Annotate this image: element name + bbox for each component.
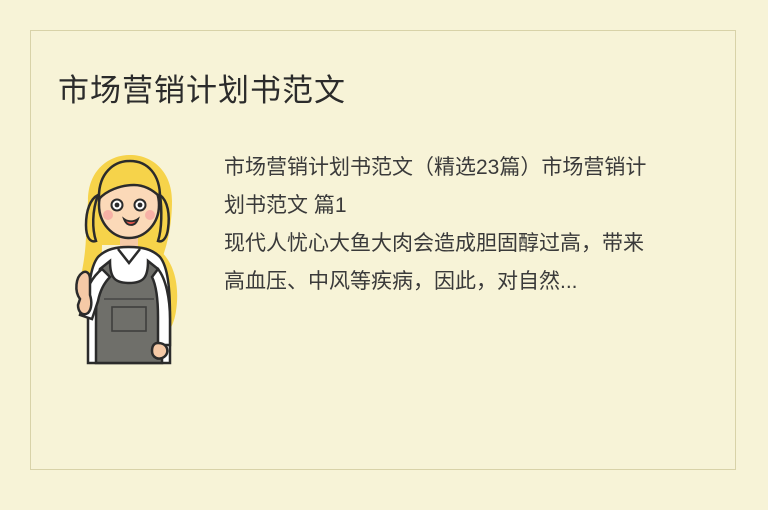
article-text: 市场营销计划书范文（精选23篇）市场营销计划书范文 篇1 现代人忧心大鱼大肉会造… [224,149,654,301]
article-card: 市场营销计划书范文 [30,30,736,470]
girl-pointing-up-illustration [58,149,198,399]
illustration-svg [58,149,198,399]
article-paragraph-1: 市场营销计划书范文（精选23篇）市场营销计划书范文 篇1 [224,149,654,225]
article-paragraph-2: 现代人忧心大鱼大肉会造成胆固醇过高，带来高血压、中风等疾病，因此，对自然... [224,225,654,301]
article-body: 市场营销计划书范文（精选23篇）市场营销计划书范文 篇1 现代人忧心大鱼大肉会造… [58,149,711,399]
page-title: 市场营销计划书范文 [58,71,346,111]
